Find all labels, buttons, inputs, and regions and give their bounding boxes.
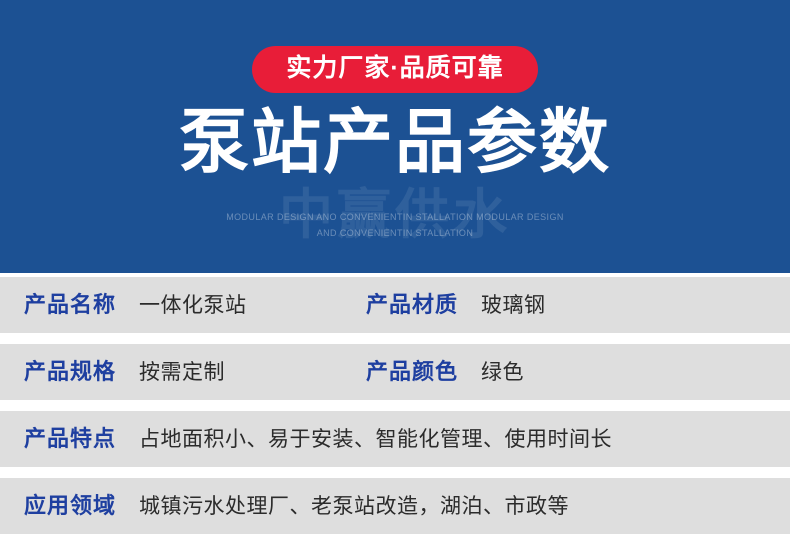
page-title: 泵站产品参数 bbox=[0, 106, 790, 180]
spec-label: 产品颜色 bbox=[366, 361, 458, 383]
table-row: 产品名称 一体化泵站 产品材质 玻璃钢 bbox=[0, 277, 790, 333]
spec-cell-product-name: 产品名称 一体化泵站 bbox=[24, 277, 247, 333]
spec-label: 产品规格 bbox=[24, 361, 116, 383]
spec-value: 占地面积小、易于安装、智能化管理、使用时间长 bbox=[139, 429, 612, 450]
product-spec-page: 中赢供水 实力厂家·品质可靠 泵站产品参数 MODULAR DESIGN ANO… bbox=[0, 0, 790, 531]
table-row: 产品特点 占地面积小、易于安装、智能化管理、使用时间长 bbox=[0, 411, 790, 467]
spec-value: 绿色 bbox=[481, 362, 524, 383]
table-row: 应用领域 城镇污水处理厂、老泵站改造，湖泊、市政等 bbox=[0, 478, 790, 534]
hero-subtitle: MODULAR DESIGN ANO CONVENIENTIN STALLATI… bbox=[0, 210, 790, 242]
quality-badge: 实力厂家·品质可靠 bbox=[252, 46, 537, 93]
spec-value: 玻璃钢 bbox=[481, 295, 546, 316]
spec-label: 产品名称 bbox=[24, 294, 116, 316]
hero-subtitle-line-2: AND CONVENIENTIN STALLATION bbox=[0, 226, 790, 242]
hero-subtitle-line-1: MODULAR DESIGN ANO CONVENIENTIN STALLATI… bbox=[0, 210, 790, 226]
spec-cell-application-fields: 应用领域 城镇污水处理厂、老泵站改造，湖泊、市政等 bbox=[24, 478, 780, 534]
spec-label: 产品材质 bbox=[366, 294, 458, 316]
spec-value: 城镇污水处理厂、老泵站改造，湖泊、市政等 bbox=[139, 496, 569, 517]
spec-cell-product-spec: 产品规格 按需定制 bbox=[24, 344, 225, 400]
hero-badge-container: 实力厂家·品质可靠 bbox=[0, 46, 790, 93]
table-row: 产品规格 按需定制 产品颜色 绿色 bbox=[0, 344, 790, 400]
spec-cell-product-features: 产品特点 占地面积小、易于安装、智能化管理、使用时间长 bbox=[24, 411, 780, 467]
spec-cell-product-color: 产品颜色 绿色 bbox=[366, 344, 524, 400]
hero-banner: 中赢供水 实力厂家·品质可靠 泵站产品参数 MODULAR DESIGN ANO… bbox=[0, 0, 790, 273]
spec-value: 按需定制 bbox=[139, 362, 225, 383]
spec-value: 一体化泵站 bbox=[139, 295, 247, 316]
product-spec-table: 产品名称 一体化泵站 产品材质 玻璃钢 产品规格 按需定制 产品颜色 绿色 产品… bbox=[0, 277, 790, 534]
spec-label: 应用领域 bbox=[24, 495, 116, 517]
spec-cell-product-material: 产品材质 玻璃钢 bbox=[366, 277, 546, 333]
hero-content: 中赢供水 实力厂家·品质可靠 泵站产品参数 MODULAR DESIGN ANO… bbox=[0, 0, 790, 273]
spec-label: 产品特点 bbox=[24, 428, 116, 450]
